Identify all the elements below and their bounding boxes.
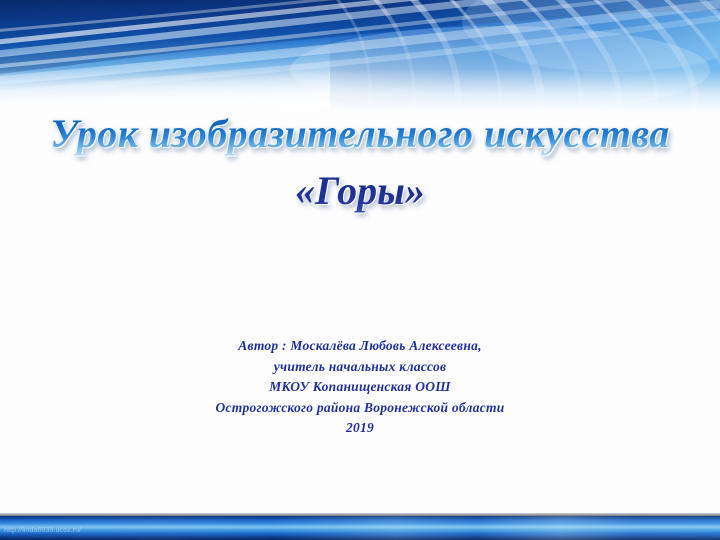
author-line-region: Острогожского района Воронежской области	[0, 398, 720, 419]
bottom-decorative-banner: http://linda6035.ucoz.ru/	[0, 513, 720, 540]
page-title: Урок изобразительного искусства	[0, 112, 720, 157]
source-watermark[interactable]: http://linda6035.ucoz.ru/	[4, 527, 81, 535]
page-subtitle: «Горы»	[0, 167, 720, 215]
presentation-slide: Урок изобразительного искусства «Горы» А…	[0, 0, 720, 540]
author-line-name: Автор : Москалёва Любовь Алексеевна,	[0, 336, 720, 357]
author-line-role: учитель начальных классов	[0, 357, 720, 378]
author-line-school: МКОУ Копанищенская ООШ	[0, 377, 720, 398]
banner-edge-shading	[0, 516, 720, 540]
author-credits: Автор : Москалёва Любовь Алексеевна, учи…	[0, 336, 720, 439]
title-block: Урок изобразительного искусства «Горы»	[0, 112, 720, 215]
top-decorative-banner	[0, 0, 720, 112]
author-line-year: 2019	[0, 418, 720, 439]
